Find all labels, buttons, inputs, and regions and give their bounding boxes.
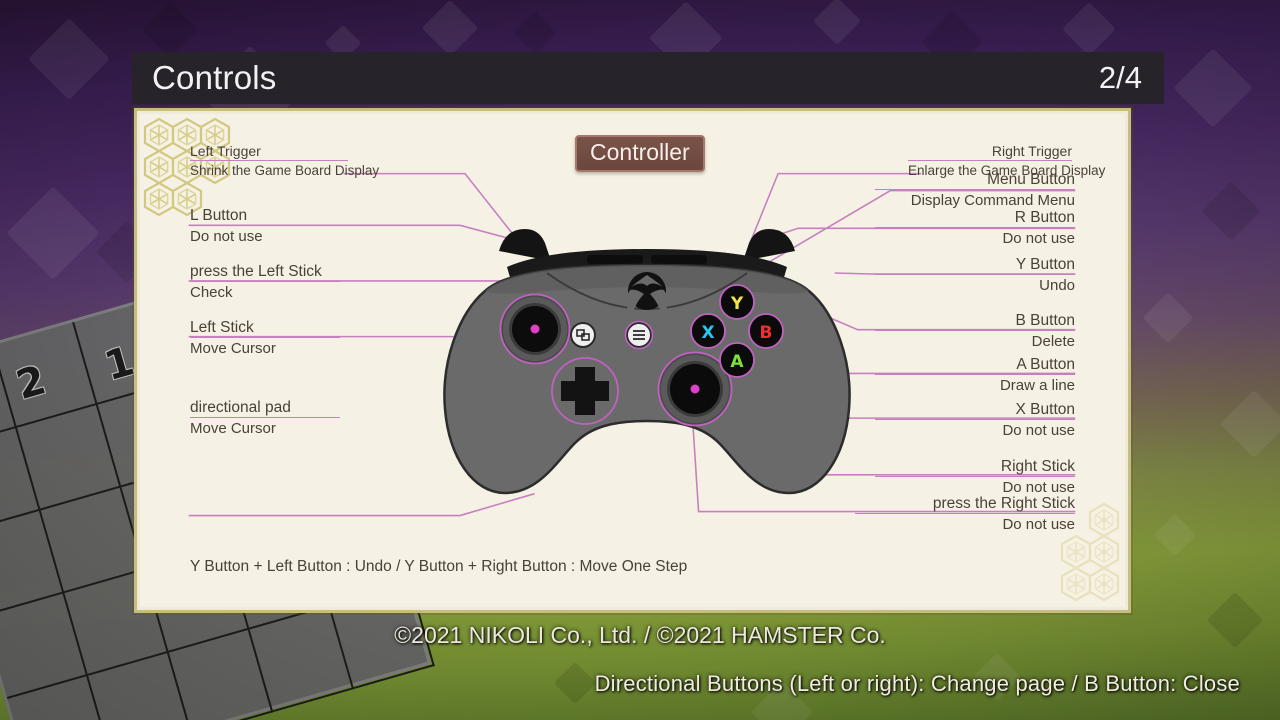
callout-left-stick: Left Stick Move Cursor xyxy=(190,319,340,359)
svg-text:B: B xyxy=(760,323,773,343)
callout-desc: Undo xyxy=(875,275,1075,295)
callout-desc: Move Cursor xyxy=(190,338,340,358)
callout-label: press the Right Stick xyxy=(855,495,1075,513)
face-button-b: B xyxy=(749,314,783,348)
callout-right-stick: Right Stick Do not use xyxy=(875,458,1075,498)
callout-desc: Move Cursor xyxy=(190,418,340,438)
callout-label: X Button xyxy=(875,401,1075,419)
callout-press-right-stick: press the Right Stick Do not use xyxy=(855,495,1075,535)
callout-a-button: A Button Draw a line xyxy=(875,356,1075,396)
callout-label: Right Trigger xyxy=(908,143,1072,160)
callout-desc: Do not use xyxy=(190,226,340,246)
copyright-text: ©2021 NIKOLI Co., Ltd. / ©2021 HAMSTER C… xyxy=(0,622,1280,649)
menu-button-icon xyxy=(626,322,653,349)
callout-desc: Do not use xyxy=(875,228,1075,248)
face-button-x: X xyxy=(691,314,725,348)
callout-desc: Check xyxy=(190,282,340,302)
callout-desc: Display Command Menu xyxy=(875,190,1075,210)
callout-label: B Button xyxy=(875,312,1075,330)
page-title: Controls xyxy=(152,59,276,97)
svg-text:A: A xyxy=(730,352,744,372)
face-button-a: A xyxy=(720,343,754,377)
svg-text:X: X xyxy=(701,323,714,343)
screen-root: 1 2 1 Controls 2/4 xyxy=(0,0,1280,720)
callout-x-button: X Button Do not use xyxy=(875,401,1075,441)
callout-label: R Button xyxy=(875,209,1075,227)
callout-desc: Do not use xyxy=(855,514,1075,534)
callout-desc: Do not use xyxy=(875,420,1075,440)
callout-left-trigger: Left Trigger Shrink the Game Board Displ… xyxy=(190,143,348,179)
callout-label: directional pad xyxy=(190,399,340,417)
controller-badge: Controller xyxy=(575,135,705,172)
callout-menu-button: Menu Button Display Command Menu xyxy=(875,171,1075,211)
callout-r-button: R Button Do not use xyxy=(875,209,1075,249)
face-button-y: Y xyxy=(720,285,754,319)
callout-desc: Draw a line xyxy=(875,375,1075,395)
callout-desc: Shrink the Game Board Display xyxy=(190,161,348,179)
callout-directional-pad: directional pad Move Cursor xyxy=(190,399,340,439)
callout-desc: Delete xyxy=(875,331,1075,351)
combo-hint-line: Y Button + Left Button : Undo / Y Button… xyxy=(190,558,687,576)
callout-label: Y Button xyxy=(875,256,1075,274)
callout-label: Left Stick xyxy=(190,319,340,337)
footer-hint-text: Directional Buttons (Left or right): Cha… xyxy=(595,671,1240,697)
page-indicator: 2/4 xyxy=(1099,60,1142,96)
callout-label: A Button xyxy=(875,356,1075,374)
title-bar: Controls 2/4 xyxy=(132,52,1164,104)
callout-label: Right Stick xyxy=(875,458,1075,476)
view-button-icon xyxy=(571,323,595,347)
callout-label: Left Trigger xyxy=(190,143,348,160)
directional-pad xyxy=(552,358,618,424)
callout-b-button: B Button Delete xyxy=(875,312,1075,352)
controller-illustration: Y X B A xyxy=(437,221,857,511)
svg-text:Y: Y xyxy=(730,294,744,314)
callout-l-button: L Button Do not use xyxy=(190,207,340,247)
controls-panel: Controller xyxy=(134,108,1131,613)
callout-press-left-stick: press the Left Stick Check xyxy=(190,263,340,303)
callout-label: press the Left Stick xyxy=(190,263,340,281)
callout-label: L Button xyxy=(190,207,340,225)
callout-label: Menu Button xyxy=(875,171,1075,189)
callout-y-button: Y Button Undo xyxy=(875,256,1075,296)
left-stick xyxy=(501,295,570,364)
